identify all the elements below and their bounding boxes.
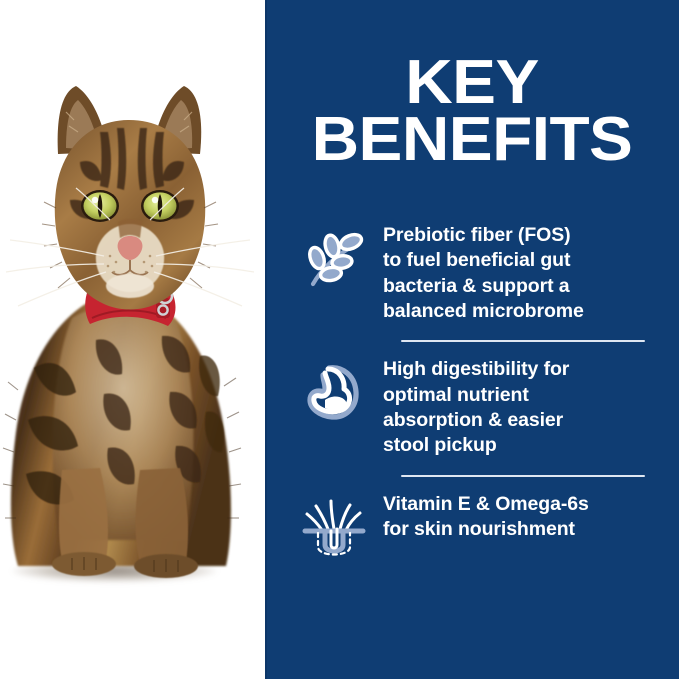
benefit-text-skin-nourishment: Vitamin E & Omega-6s for skin nourishmen… [383, 491, 589, 543]
benefit-item-prebiotic-fiber: Prebiotic fiber (FOS) to fuel beneficial… [265, 222, 679, 324]
benefits-panel: KEY BENEFITS [265, 0, 679, 679]
benefit-divider-2 [401, 475, 645, 477]
cat-photo [0, 0, 265, 679]
benefit-3-line-1: Vitamin E & Omega-6s [383, 493, 589, 515]
benefit-2-line-2: optimal nutrient [383, 384, 529, 406]
benefit-3-line-2: for skin nourishment [383, 518, 575, 540]
title-line-1: KEY [253, 54, 679, 111]
benefit-1-line-1: Prebiotic fiber (FOS) [383, 224, 571, 246]
benefit-1-line-3: bacteria & support a [383, 275, 570, 297]
benefit-1-line-4: balanced microbrome [383, 300, 584, 322]
benefit-1-line-2: to fuel beneficial gut [383, 249, 570, 271]
benefit-item-skin-nourishment: Vitamin E & Omega-6s for skin nourishmen… [265, 491, 679, 561]
cat-photo-panel [0, 0, 265, 679]
photo-stage [0, 0, 265, 679]
product-benefits-banner: KEY BENEFITS [0, 0, 679, 679]
benefit-2-line-1: High digestibility for [383, 358, 569, 380]
page-title: KEY BENEFITS [253, 54, 679, 168]
benefit-text-prebiotic-fiber: Prebiotic fiber (FOS) to fuel beneficial… [383, 222, 584, 324]
benefit-item-digestibility: High digestibility for optimal nutrient … [265, 356, 679, 458]
stomach-icon [301, 360, 367, 426]
wheat-sprig-icon [301, 226, 367, 292]
benefit-2-line-3: absorption & easier [383, 409, 563, 431]
hair-follicle-icon [301, 495, 367, 561]
benefit-2-line-4: stool pickup [383, 434, 497, 456]
title-line-2: BENEFITS [253, 111, 679, 168]
benefit-list: Prebiotic fiber (FOS) to fuel beneficial… [265, 222, 679, 561]
benefit-divider-1 [401, 340, 645, 342]
benefit-text-digestibility: High digestibility for optimal nutrient … [383, 356, 569, 458]
